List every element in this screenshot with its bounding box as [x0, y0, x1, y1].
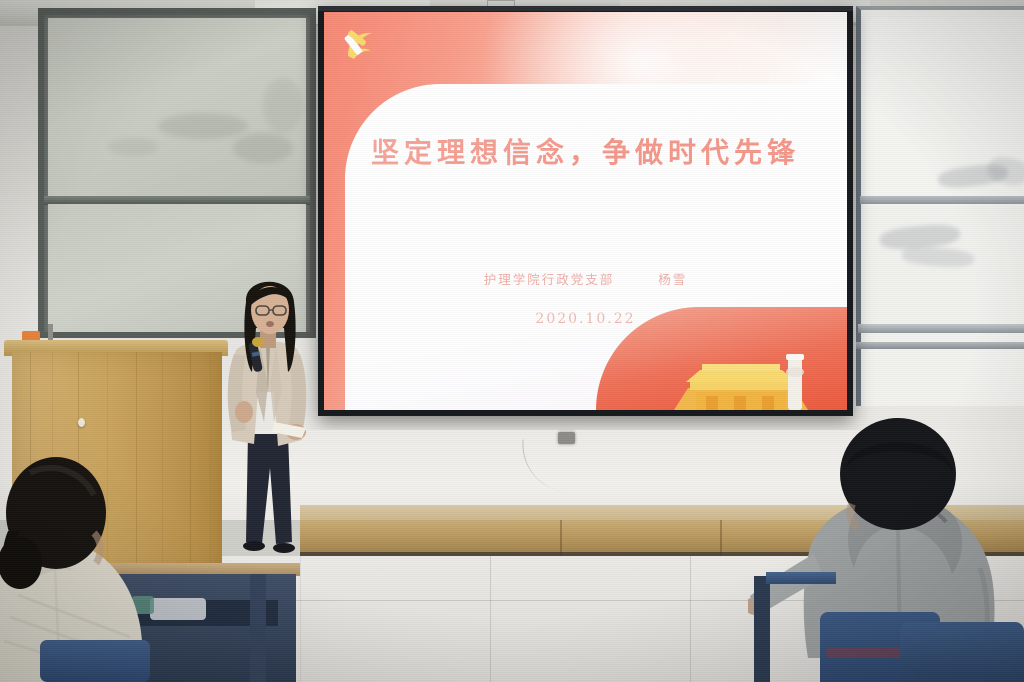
chair-far-right: [900, 622, 1024, 682]
slide-organization: 护理学院行政党支部: [484, 272, 615, 287]
podium-knob: [78, 418, 85, 427]
classroom-photo-scene: 坚定理想信念，争做时代先锋 护理学院行政党支部杨雪 2020.10.22: [0, 0, 1024, 682]
whiteboard-panel-upper: [866, 18, 1024, 218]
presenter-speaking: [214, 272, 332, 572]
slide-subtitle: 护理学院行政党支部杨雪: [324, 269, 847, 288]
tiananmen-gate-illustration: [666, 352, 816, 410]
chair-front-left: [40, 640, 150, 682]
stage-plank-seam: [560, 520, 562, 556]
whiteboard-panel-lower: [866, 206, 1024, 326]
presentation-slide: 坚定理想信念，争做时代先锋 护理学院行政党支部杨雪 2020.10.22: [324, 12, 847, 410]
hammer-and-sickle-emblem: [341, 26, 381, 66]
stage-plank-seam: [720, 520, 722, 556]
whiteboard-rail: [856, 342, 1024, 349]
projection-screen: 坚定理想信念，争做时代先锋 护理学院行政党支部杨雪 2020.10.22: [318, 6, 853, 416]
slide-presenter-name: 杨雪: [658, 272, 687, 287]
desk-leg: [250, 574, 266, 682]
whiteboard-rail: [860, 196, 1024, 204]
whiteboard-rail: [858, 324, 1024, 333]
desk-front-right-top: [766, 572, 836, 584]
chalkboard-panel-upper: [48, 18, 306, 198]
slide-date: 2020.10.22: [324, 311, 847, 327]
desk-front-right-leg: [754, 576, 770, 682]
slide-title: 坚定理想信念，争做时代先锋: [324, 131, 847, 171]
